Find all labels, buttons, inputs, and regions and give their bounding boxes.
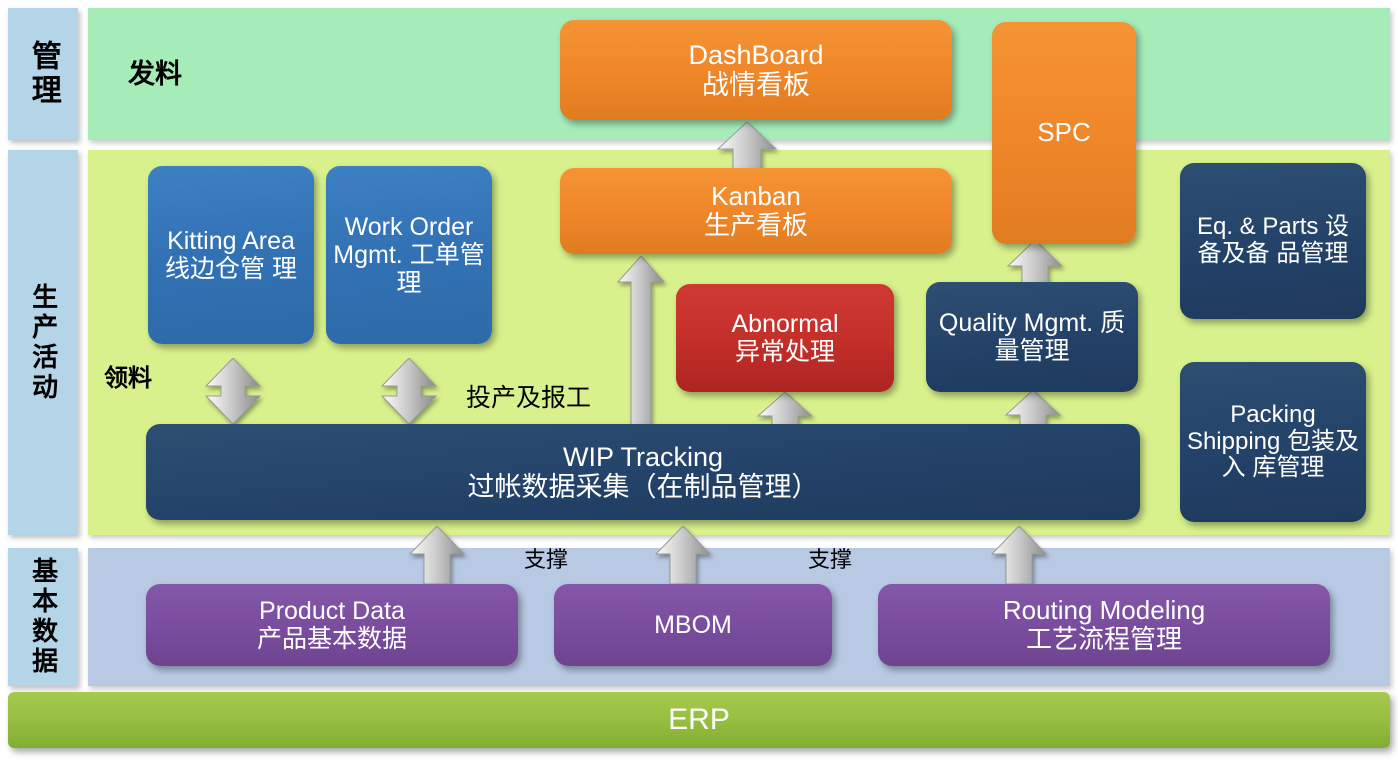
flow-label-pick-material: 领料 [104, 358, 152, 393]
node-work-order-line-4: 工单管理 [396, 241, 484, 297]
node-abnormal-en: Abnormal [732, 310, 839, 338]
arrow-wip-to-kanban [616, 256, 666, 426]
node-routing-en: Routing Modeling [1003, 596, 1205, 625]
node-product-data-en: Product Data [257, 597, 407, 625]
arrow-quality-to-spc [1006, 240, 1064, 288]
arrow-workorder-wip-bidirectional [380, 358, 438, 424]
node-abnormal[interactable]: Abnormal 异常处理 [676, 284, 894, 392]
node-spc-en: SPC [1037, 118, 1090, 147]
flow-label-support-1: 支撑 [524, 542, 568, 574]
node-packing-line-1: Packing [1230, 401, 1315, 428]
node-mbom[interactable]: MBOM [554, 584, 832, 666]
node-abnormal-cn: 异常处理 [732, 338, 839, 366]
flow-label-issue-material: 发料 [128, 52, 182, 91]
arrow-kanban-to-dashboard [716, 122, 778, 172]
node-wip-tracking[interactable]: WIP Tracking 过帐数据采集（在制品管理） [146, 424, 1140, 520]
node-mbom-en: MBOM [654, 611, 732, 639]
node-packing-shipping[interactable]: Packing Shipping 包装及入 库管理 [1180, 362, 1366, 522]
flow-label-support-2: 支撑 [808, 542, 852, 574]
node-product-data-cn: 产品基本数据 [257, 625, 407, 653]
node-erp-en: ERP [668, 703, 730, 737]
arrow-mbom-to-wip [654, 526, 712, 584]
arrow-product-data-to-wip [408, 526, 466, 584]
mes-architecture-diagram: 管理 生产活动 基本数据 发料 领料 投产及报工 支撑 支撑 [0, 0, 1398, 773]
node-spc[interactable]: SPC [992, 22, 1136, 244]
node-kanban-cn: 生产看板 [704, 211, 808, 240]
sidebar-zone-production: 生产活动 [8, 150, 78, 535]
arrow-routing-to-wip [990, 526, 1048, 584]
node-dashboard-cn: 战情看板 [688, 70, 823, 100]
node-kitting-line-2: Area [242, 227, 295, 255]
node-dashboard-en: DashBoard [688, 40, 823, 70]
sidebar-zone-production-label: 生产活动 [29, 283, 56, 403]
node-dashboard[interactable]: DashBoard 战情看板 [560, 20, 952, 120]
node-packing-line-4: 库管理 [1252, 454, 1324, 481]
node-kanban-en: Kanban [704, 182, 808, 211]
node-kitting-line-3: 线边仓管 [165, 255, 265, 283]
sidebar-zone-management-label: 管理 [27, 40, 59, 108]
node-product-data[interactable]: Product Data 产品基本数据 [146, 584, 518, 666]
node-kitting-area[interactable]: Kitting Area 线边仓管 理 [148, 166, 314, 344]
node-eq-parts-line-2: Parts [1262, 213, 1318, 240]
node-work-order-line-2: Order [409, 213, 473, 241]
node-kitting-line-1: Kitting [167, 227, 236, 255]
sidebar-zone-management: 管理 [8, 8, 78, 140]
node-wip-en: WIP Tracking [468, 442, 819, 472]
node-quality-line-2: Mgmt. [1024, 309, 1093, 337]
node-wip-cn: 过帐数据采集（在制品管理） [468, 472, 819, 502]
flow-label-production-report: 投产及报工 [466, 378, 591, 414]
arrow-kitting-wip-bidirectional [204, 358, 262, 424]
sidebar-zone-basic-data: 基本数据 [8, 548, 78, 686]
node-kitting-line-4: 理 [272, 255, 297, 283]
node-routing-cn: 工艺流程管理 [1003, 625, 1205, 654]
node-erp[interactable]: ERP [8, 692, 1390, 748]
node-eq-parts-line-1: Eq. & [1197, 213, 1256, 240]
sidebar-zone-basic-data-label: 基本数据 [29, 557, 56, 677]
node-packing-line-2: Shipping [1187, 428, 1280, 455]
node-equipment-parts[interactable]: Eq. & Parts 设备及备 品管理 [1180, 163, 1366, 319]
node-eq-parts-line-4: 品管理 [1276, 240, 1348, 267]
node-routing-modeling[interactable]: Routing Modeling 工艺流程管理 [878, 584, 1330, 666]
node-work-order-mgmt[interactable]: Work Order Mgmt. 工单管理 [326, 166, 492, 344]
node-quality-line-1: Quality [939, 309, 1017, 337]
node-work-order-line-3: Mgmt. [333, 241, 402, 269]
node-work-order-line-1: Work [345, 213, 403, 241]
node-kanban[interactable]: Kanban 生产看板 [560, 168, 952, 254]
node-quality-mgmt[interactable]: Quality Mgmt. 质量管理 [926, 282, 1138, 392]
